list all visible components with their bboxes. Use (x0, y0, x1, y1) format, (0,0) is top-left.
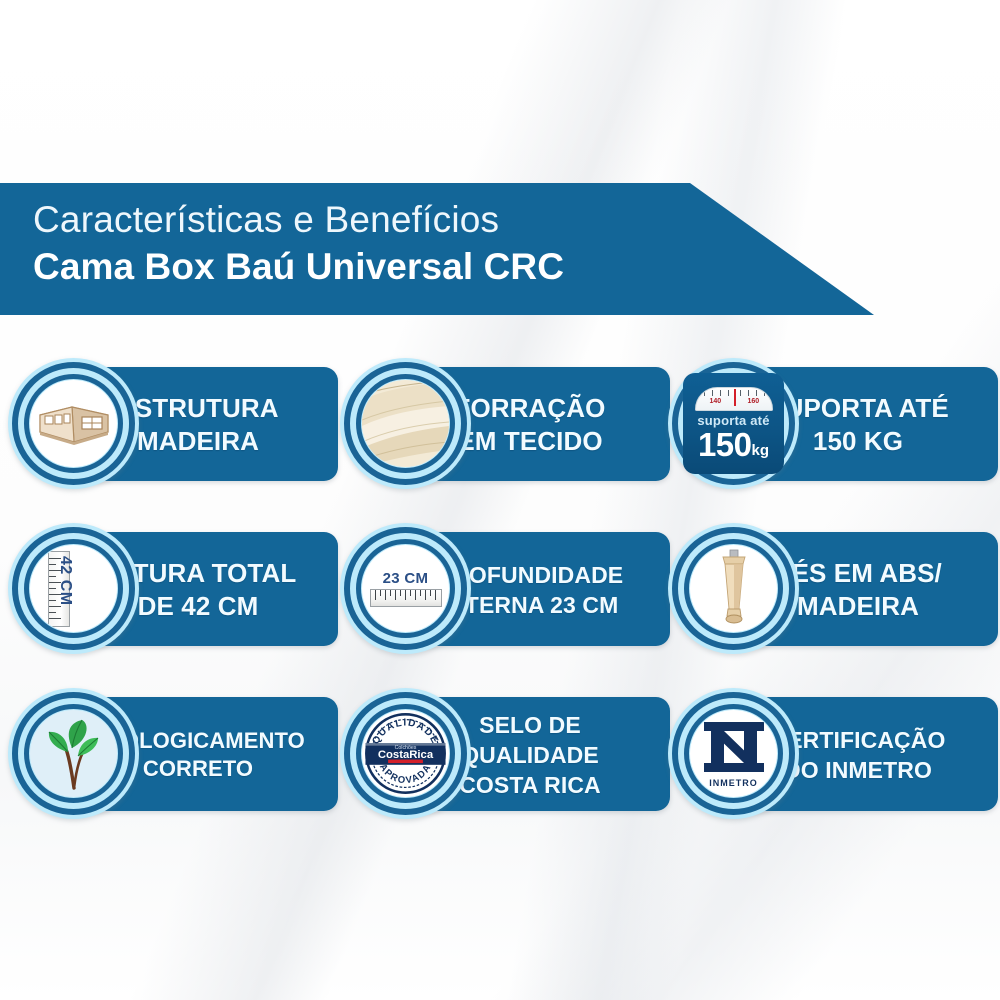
seal-brand-main: CostaRica (378, 749, 434, 761)
badge-disc (690, 545, 777, 632)
ruler-value-label: 42 CM (56, 556, 74, 624)
feature-label-line: PÉS EM ABS/ (774, 557, 942, 590)
feature-card-altura-total-42cm[interactable]: ALTURA TOTAL DE 42 CM (8, 523, 338, 656)
feature-badge (340, 358, 471, 489)
page-title: Cama Box Baú Universal CRC (33, 243, 673, 291)
feature-label-line: COSTA RICA (459, 770, 601, 800)
feature-badge: 42 CM (8, 523, 139, 654)
furniture-leg-icon (709, 549, 759, 629)
fabric-swatch-icon (362, 380, 449, 467)
scale-number: 150 (698, 428, 752, 461)
eco-plant-icon (34, 714, 114, 794)
weight-scale-icon: 140 160 suporta até 150 kg (683, 373, 784, 474)
scale-value: 150 kg (698, 428, 769, 461)
horizontal-ruler-icon: 23 CM (370, 570, 442, 607)
badge-disc (362, 380, 449, 467)
feature-badge: 23 CM (340, 523, 471, 654)
feature-badge: QUALIDADE APROVADA Colchões CostaRica (340, 688, 471, 819)
feature-badge: INMETRO (668, 688, 799, 819)
scale-unit: kg (752, 443, 770, 461)
ruler-value-label: 23 CM (383, 570, 429, 587)
feature-badge: 140 160 suporta até 150 kg (668, 358, 799, 489)
feature-card-suporta-ate-150kg[interactable]: SUPORTA ATÉ 150 KG (668, 358, 998, 491)
scale-needle (734, 389, 736, 406)
feature-label-line: 150 KG (813, 425, 903, 458)
feature-label-line: DO INMETRO (784, 755, 932, 785)
ruler-body (370, 589, 442, 607)
feature-label-line: MADEIRA (137, 425, 259, 458)
badge-disc: QUALIDADE APROVADA Colchões CostaRica (362, 710, 449, 797)
inmetro-n-mark (700, 719, 768, 777)
feature-card-certificacao-inmetro[interactable]: CERTIFICAÇÃO DO INMETRO (668, 688, 998, 821)
feature-label-line: FORRAÇÃO (454, 392, 605, 425)
feature-label-line: DE 42 CM (138, 590, 259, 623)
feature-card-profundidade-interna-23cm[interactable]: PROFUNDIDADE INTERNA 23 CM 23 CM (340, 523, 670, 656)
feature-row: ALTURA TOTAL DE 42 CM (0, 523, 1000, 688)
inmetro-logo-icon: INMETRO (694, 714, 774, 794)
badge-disc: INMETRO (690, 710, 777, 797)
feature-badge (668, 523, 799, 654)
feature-card-forracao-em-tecido[interactable]: FORRAÇÃO EM TECIDO (340, 358, 670, 491)
inmetro-label: INMETRO (709, 778, 758, 788)
feature-grid: ESTRUTURA MADEIRA (0, 358, 1000, 853)
page-subtitle: Características e Benefícios (33, 197, 673, 243)
header-banner-text: Características e Benefícios Cama Box Ba… (33, 197, 673, 291)
feature-label-line: CORRETO (143, 755, 253, 783)
feature-label-line: MADEIRA (797, 590, 919, 623)
feature-row: ESTRUTURA MADEIRA (0, 358, 1000, 523)
wood-frame-icon (38, 402, 110, 446)
scale-dial-right-number: 160 (748, 398, 760, 405)
badge-disc: 23 CM (362, 545, 449, 632)
badge-disc (30, 380, 117, 467)
scale-dial-left-number: 140 (710, 398, 722, 405)
infographic-page: Características e Benefícios Cama Box Ba… (0, 0, 1000, 1000)
feature-label-line: SELO DE (479, 710, 581, 740)
feature-label-line: ESTRUTURA (117, 392, 278, 425)
feature-card-estrutura-madeira[interactable]: ESTRUTURA MADEIRA (8, 358, 338, 491)
feature-row: ECOLOGICAMENTO CORRETO (0, 688, 1000, 853)
costa-rica-seal-icon: QUALIDADE APROVADA Colchões CostaRica (362, 710, 449, 797)
scale-dial: 140 160 (695, 387, 773, 411)
badge-disc (30, 710, 117, 797)
feature-card-pes-em-abs-madeira[interactable]: PÉS EM ABS/ MADEIRA (668, 523, 998, 656)
feature-badge (8, 358, 139, 489)
feature-card-selo-qualidade-costa-rica[interactable]: SELO DE QUALIDADE COSTA RICA (340, 688, 670, 821)
feature-label-line: QUALIDADE (461, 740, 599, 770)
feature-card-ecologicamento-correto[interactable]: ECOLOGICAMENTO CORRETO (8, 688, 338, 821)
badge-disc: 42 CM (30, 545, 117, 632)
feature-badge (8, 688, 139, 819)
header-banner: Características e Benefícios Cama Box Ba… (0, 183, 874, 315)
feature-label-line: EM TECIDO (457, 425, 602, 458)
